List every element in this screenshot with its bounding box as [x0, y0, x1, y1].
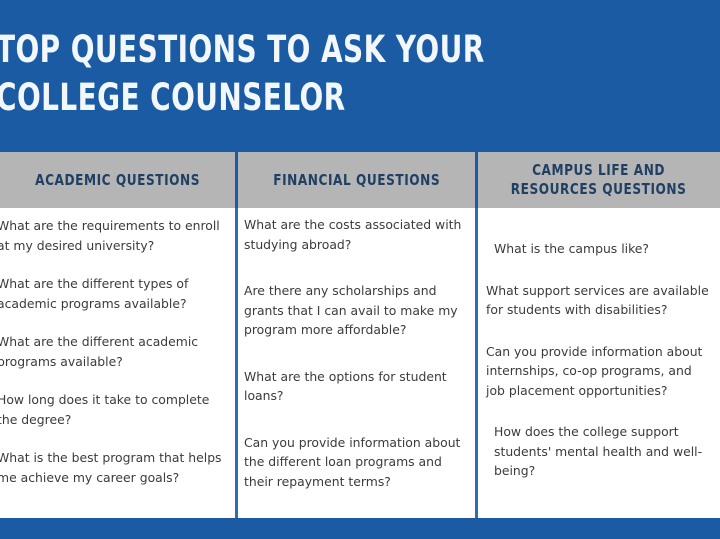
question-list: What is the campus like? What support se… — [486, 239, 720, 481]
page-title: Top Questions to Ask Your College Counse… — [0, 26, 584, 122]
column-header-academic: Academic Questions — [0, 152, 238, 208]
column-header-label: Financial Questions — [273, 171, 440, 190]
column-header-campus-life: Campus Life and Resources Questions — [478, 152, 720, 208]
table-header-row: Academic Questions Financial Questions C… — [0, 152, 720, 208]
questions-table: Academic Questions Financial Questions C… — [0, 152, 720, 518]
list-item: What support services are available for … — [486, 281, 712, 320]
list-item: What are the different academic programs… — [0, 332, 227, 371]
list-item: What are the options for student loans? — [244, 367, 471, 406]
list-item: Can you provide information about intern… — [486, 342, 712, 401]
list-item: What are the requirements to enroll at m… — [0, 216, 227, 255]
list-item: Are there any scholarships and grants th… — [244, 281, 471, 340]
table-body-row: What are the requirements to enroll at m… — [0, 208, 720, 518]
list-item: What are the different types of academic… — [0, 274, 227, 313]
question-list: What are the costs associated with study… — [244, 215, 475, 491]
infographic-poster: Top Questions to Ask Your College Counse… — [0, 0, 720, 539]
column-body-campus-life: What is the campus like? What support se… — [478, 208, 720, 518]
bottom-accent-band — [0, 518, 720, 539]
column-body-academic: What are the requirements to enroll at m… — [0, 208, 238, 518]
column-header-financial: Financial Questions — [238, 152, 478, 208]
column-header-label: Campus Life and Resources Questions — [511, 161, 687, 199]
list-item: How does the college support students' m… — [486, 422, 712, 481]
list-item: What is the campus like? — [486, 239, 712, 259]
title-band: Top Questions to Ask Your College Counse… — [0, 0, 720, 152]
list-item: How long does it take to complete the de… — [0, 390, 227, 429]
list-item: What are the costs associated with study… — [244, 215, 471, 254]
column-header-label: Academic Questions — [35, 171, 200, 190]
question-list: What are the requirements to enroll at m… — [0, 216, 235, 487]
list-item: What is the best program that helps me a… — [0, 448, 227, 487]
column-body-financial: What are the costs associated with study… — [238, 208, 478, 518]
list-item: Can you provide information about the di… — [244, 433, 471, 492]
